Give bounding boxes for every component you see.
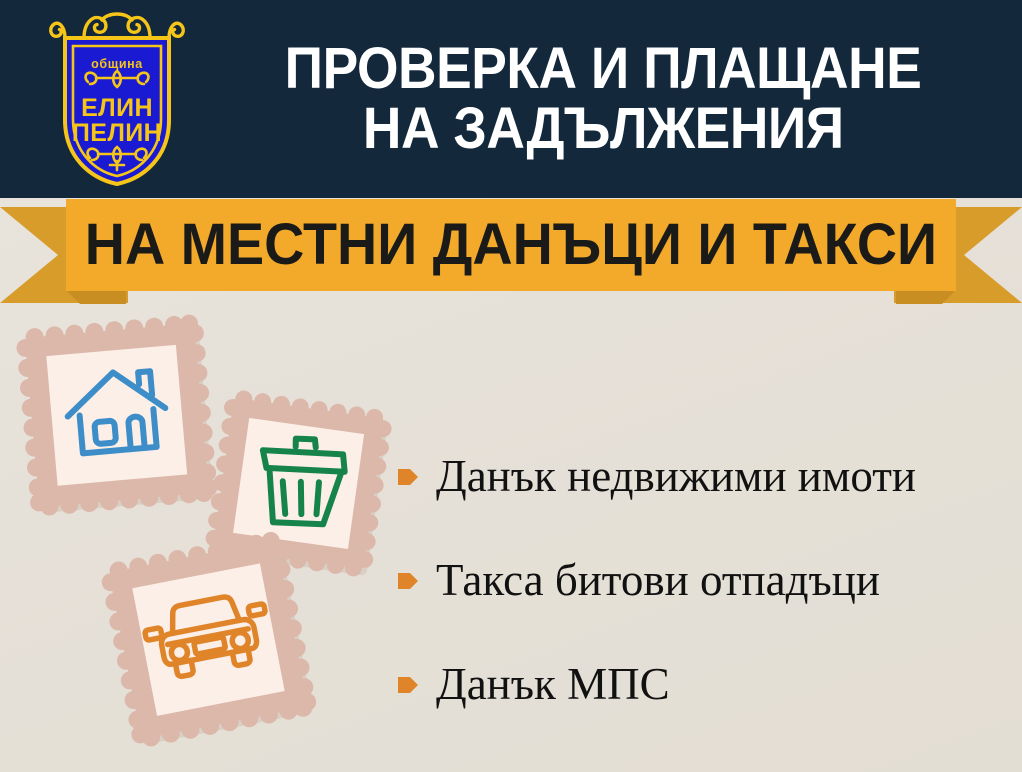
- list-item[interactable]: Такса битови отпадъци: [398, 528, 1008, 632]
- ribbon-plate: НА МЕСТНИ ДАНЪЦИ И ТАКСИ: [66, 199, 956, 291]
- arrow-bullet-icon: [398, 466, 418, 488]
- svg-text:община: община: [91, 57, 143, 71]
- municipality-logo: община ЕЛИН ПЕЛИН: [44, 8, 190, 190]
- title-line-1: ПРОВЕРКА И ПЛАЩАНЕ: [285, 39, 922, 99]
- list-item-label: Данък МПС: [436, 662, 670, 707]
- ribbon-label: НА МЕСТНИ ДАНЪЦИ И ТАКСИ: [85, 216, 937, 274]
- list-item[interactable]: Данък МПС: [398, 632, 1008, 736]
- tax-types-list: Данък недвижими имоти Такса битови отпад…: [398, 424, 1008, 736]
- stamp-card-property: [14, 312, 226, 524]
- subtitle-ribbon: НА МЕСТНИ ДАНЪЦИ И ТАКСИ: [0, 199, 1022, 303]
- list-item-label: Такса битови отпадъци: [436, 558, 880, 603]
- svg-text:ПЕЛИН: ПЕЛИН: [72, 119, 162, 147]
- list-item[interactable]: Данък недвижими имоти: [398, 424, 1008, 528]
- svg-text:ЕЛИН: ЕЛИН: [81, 94, 153, 122]
- title-line-2: НА ЗАДЪЛЖЕНИЯ: [363, 99, 844, 159]
- poster-title: ПРОВЕРКА И ПЛАЩАНЕ НА ЗАДЪЛЖЕНИЯ: [196, 18, 1010, 180]
- list-item-label: Данък недвижими имоти: [436, 454, 916, 499]
- arrow-bullet-icon: [398, 674, 418, 696]
- poster-canvas: община ЕЛИН ПЕЛИН ПРОВЕРКА: [0, 0, 1022, 772]
- stamp-card-vehicle: [104, 534, 320, 750]
- arrow-bullet-icon: [398, 570, 418, 592]
